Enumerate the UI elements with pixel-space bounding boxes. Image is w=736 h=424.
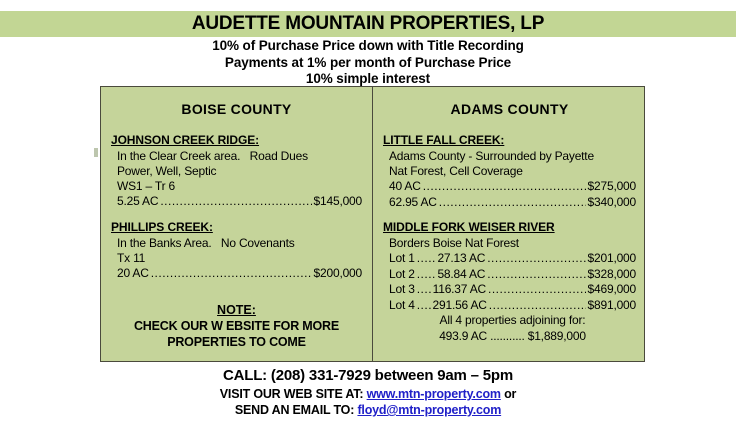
listing-acreage: 40 AC	[389, 179, 421, 195]
description-line: Nat Forest, Cell Coverage	[383, 164, 636, 179]
listing-price: $145,000	[314, 194, 362, 210]
boise-county-column: BOISE COUNTY JOHNSON CREEK RIDGE: In the…	[101, 87, 373, 361]
contact-footer: CALL: (208) 331-7929 between 9am – 5pm V…	[0, 366, 736, 418]
note-block: NOTE: CHECK OUR W EBSITE FOR MORE PROPER…	[111, 303, 362, 350]
leader-dots: ........	[417, 251, 436, 267]
lot-acreage: 58.84 AC	[437, 267, 485, 283]
section-johnson-creek-ridge: JOHNSON CREEK RIDGE: In the Clear Creek …	[111, 133, 362, 210]
leader-dots: ........	[417, 267, 436, 283]
adams-county-heading: ADAMS COUNTY	[383, 101, 636, 117]
email-prefix: SEND AN EMAIL TO:	[235, 403, 354, 417]
lot-row: Lot 4 ...... 291.56 AC .................…	[383, 298, 636, 314]
section-title: MIDDLE FORK WEISER RIVER	[383, 220, 636, 234]
leader-dots: ........................................…	[487, 267, 585, 283]
leader-dots: ........................................…	[423, 179, 586, 195]
adjoining-price: $1,889,000	[528, 329, 586, 343]
description-line: In the Banks Area. No Covenants	[111, 236, 362, 251]
lot-label: Lot 2	[389, 267, 415, 283]
section-title: JOHNSON CREEK RIDGE:	[111, 133, 362, 147]
lot-label: Lot 4	[389, 298, 415, 314]
leader-dots: ........................................…	[439, 195, 586, 211]
section-title: LITTLE FALL CREEK:	[383, 133, 636, 147]
scan-artifact	[94, 148, 98, 157]
description-line: Tx 11	[111, 251, 362, 266]
leader-dots: ........................................…	[487, 251, 585, 267]
listing-price: $275,000	[588, 179, 636, 195]
adjoining-label: All 4 properties adjoining for:	[383, 313, 636, 329]
listing-row: 20 AC ..................................…	[111, 266, 362, 282]
lot-row: Lot 2 ........ 58.84 AC ................…	[383, 267, 636, 283]
lot-row: Lot 1 ........ 27.13 AC ................…	[383, 251, 636, 267]
description-line: WS1 – Tr 6	[111, 179, 362, 194]
lot-row: Lot 3 ...... 116.37 AC .................…	[383, 282, 636, 298]
leader-dots: ........................................…	[160, 194, 311, 210]
section-little-fall-creek: LITTLE FALL CREEK: Adams County - Surrou…	[383, 133, 636, 210]
adjoining-acreage: 493.9 AC	[439, 329, 487, 343]
call-line: CALL: (208) 331-7929 between 9am – 5pm	[0, 366, 736, 386]
section-title: PHILLIPS CREEK:	[111, 220, 362, 234]
listing-acreage: 5.25 AC	[117, 194, 158, 210]
website-prefix: VISIT OUR WEB SITE AT:	[220, 387, 364, 401]
description-line: Power, Well, Septic	[111, 164, 362, 179]
section-middle-fork-weiser-river: MIDDLE FORK WEISER RIVER Borders Boise N…	[383, 220, 636, 344]
lot-label: Lot 3	[389, 282, 415, 298]
leader-dots: ........................................…	[488, 282, 586, 298]
lot-price: $201,000	[588, 251, 636, 267]
leader-dots: ........................................…	[151, 266, 312, 282]
leader-dots: ........................................…	[489, 298, 586, 314]
adams-county-column: ADAMS COUNTY LITTLE FALL CREEK: Adams Co…	[373, 87, 644, 361]
listing-row: 40 AC ..................................…	[383, 179, 636, 195]
description-line: In the Clear Creek area. Road Dues	[111, 149, 362, 164]
lot-price: $328,000	[588, 267, 636, 283]
listing-row: 62.95 AC ...............................…	[383, 195, 636, 211]
lot-acreage: 27.13 AC	[437, 251, 485, 267]
leader-dots: ......	[417, 298, 431, 314]
description-line: Adams County - Surrounded by Payette	[383, 149, 636, 164]
listing-row: 5.25 AC ................................…	[111, 194, 362, 210]
lot-label: Lot 1	[389, 251, 415, 267]
listings-panel: BOISE COUNTY JOHNSON CREEK RIDGE: In the…	[100, 86, 645, 362]
section-phillips-creek: PHILLIPS CREEK: In the Banks Area. No Co…	[111, 220, 362, 282]
note-line: CHECK OUR W EBSITE FOR MORE	[111, 318, 362, 334]
listing-price: $200,000	[314, 266, 362, 282]
boise-county-heading: BOISE COUNTY	[111, 101, 362, 117]
lot-price: $469,000	[588, 282, 636, 298]
lot-acreage: 116.37 AC	[433, 282, 486, 298]
terms-line-1: 10% of Purchase Price down with Title Re…	[0, 38, 736, 55]
note-title: NOTE:	[111, 303, 362, 317]
listing-acreage: 20 AC	[117, 266, 149, 282]
email-link[interactable]: floyd@mtn-property.com	[357, 403, 501, 417]
website-link[interactable]: www.mtn-property.com	[367, 387, 501, 401]
email-line: SEND AN EMAIL TO: floyd@mtn-property.com	[0, 402, 736, 418]
lot-price: $891,000	[588, 298, 636, 314]
adjoining-total: 493.9 AC ........... $1,889,000	[383, 329, 636, 345]
listing-acreage: 62.95 AC	[389, 195, 437, 211]
terms-subheader: 10% of Purchase Price down with Title Re…	[0, 38, 736, 88]
terms-line-2: Payments at 1% per month of Purchase Pri…	[0, 55, 736, 72]
leader-dots: ...........	[490, 329, 528, 343]
description-line: Borders Boise Nat Forest	[383, 236, 636, 251]
note-line: PROPERTIES TO COME	[111, 334, 362, 350]
leader-dots: ......	[417, 282, 431, 298]
website-line: VISIT OUR WEB SITE AT: www.mtn-property.…	[0, 386, 736, 402]
listing-price: $340,000	[588, 195, 636, 211]
page-title: AUDETTE MOUNTAIN PROPERTIES, LP	[0, 11, 736, 37]
website-suffix: or	[504, 387, 516, 401]
lot-acreage: 291.56 AC	[433, 298, 487, 314]
